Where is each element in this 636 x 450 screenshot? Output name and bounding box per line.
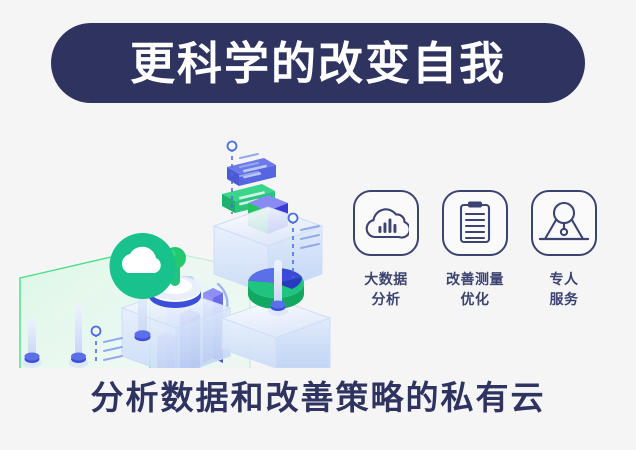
feature-label-line2: 分析: [364, 289, 408, 309]
feature-label-line2: 服务: [550, 289, 579, 309]
feature-label-big-data: 大数据 分析: [364, 269, 408, 310]
feature-label-line1: 大数据: [364, 269, 408, 289]
clipboard-icon: [455, 200, 495, 246]
hero-illustration: [0, 118, 340, 368]
headline-pill: 更科学的改变自我: [51, 23, 585, 103]
feature-item-big-data[interactable]: 大数据 分析: [348, 190, 424, 310]
feature-item-measurement[interactable]: 改善测量 优化: [437, 190, 513, 310]
feature-label-line1: 专人: [550, 269, 579, 289]
feature-list: 大数据 分析 改善测量: [348, 190, 602, 310]
feature-label-service: 专人 服务: [550, 269, 579, 310]
feature-label-line1: 改善测量: [446, 269, 504, 289]
promo-banner: 更科学的改变自我: [0, 0, 636, 450]
feature-icon-box: [442, 190, 508, 256]
feature-icon-box: [353, 190, 419, 256]
feature-label-measurement: 改善测量 优化: [446, 269, 504, 310]
cloud-bar-chart-icon: [363, 202, 409, 244]
feature-item-service[interactable]: 专人 服务: [526, 190, 602, 310]
tagline: 分析数据和改善策略的私有云: [0, 381, 636, 414]
feature-icon-box: [531, 190, 597, 256]
service-person-icon: [538, 201, 590, 245]
page-title: 更科学的改变自我: [130, 41, 506, 86]
badge-tag-blue: [227, 158, 276, 186]
feature-label-line2: 优化: [446, 289, 504, 309]
